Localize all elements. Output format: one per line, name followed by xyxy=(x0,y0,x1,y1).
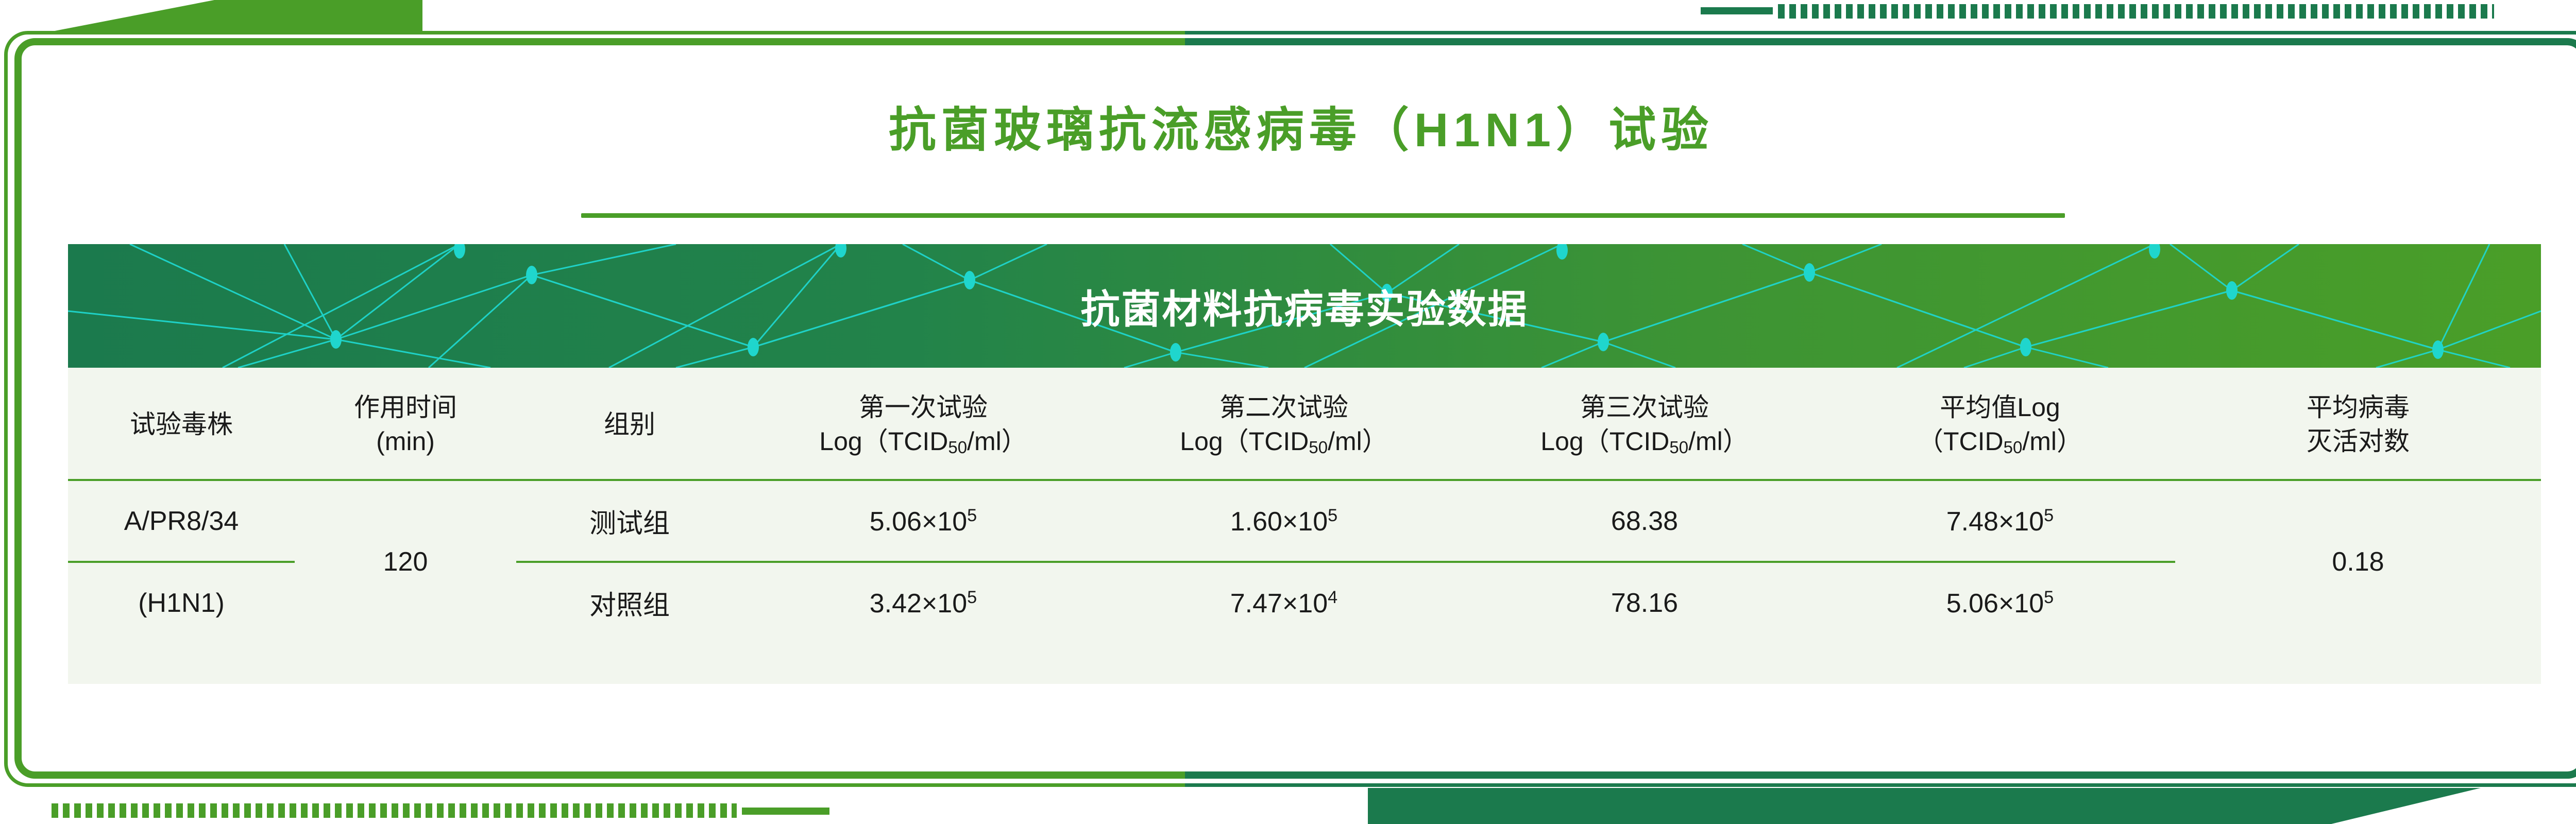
header-contact-time: 作用时间 (min) xyxy=(295,368,516,480)
cell-test2-test-group: 1.60×105 xyxy=(1104,480,1464,562)
page-root: 抗菌玻璃抗流感病毒（H1N1）试验 xyxy=(0,0,2576,824)
header-test-3: 第三次试验 Log（TCID50/ml） xyxy=(1464,368,1825,480)
cell-test1-control-group: 3.42×105 xyxy=(743,562,1104,643)
cell-group-test: 测试组 xyxy=(516,480,743,562)
table-row: A/PR8/34 120 测试组 5.06×105 1.60×105 68.38… xyxy=(68,480,2541,562)
data-table-card: 抗菌材料抗病毒实验数据 试验毒株 作用时 xyxy=(68,244,2541,684)
header-group: 组别 xyxy=(516,368,743,480)
page-title: 抗菌玻璃抗流感病毒（H1N1）试验 xyxy=(0,92,2576,160)
cell-avg-control-group: 5.06×105 xyxy=(1825,562,2175,643)
cell-test2-control-group: 7.47×104 xyxy=(1104,562,1464,643)
cell-test3-control-group: 78.16 xyxy=(1464,562,1825,643)
cell-contact-time: 120 xyxy=(295,480,516,643)
header-test-1: 第一次试验 Log（TCID50/ml） xyxy=(743,368,1104,480)
title-underline xyxy=(581,213,2065,218)
table-header-row: 试验毒株 作用时间 (min) 组别 第一次试验 Log（T xyxy=(68,368,2541,480)
header-average-log: 平均值Log （TCID50/ml） xyxy=(1825,368,2175,480)
cell-avg-test-group: 7.48×105 xyxy=(1825,480,2175,562)
cell-test3-test-group: 68.38 xyxy=(1464,480,1825,562)
header-strain: 试验毒株 xyxy=(68,368,295,480)
cell-group-control: 对照组 xyxy=(516,562,743,643)
header-avg-inactivation-log: 平均病毒 灭活对数 xyxy=(2175,368,2541,480)
banner-title: 抗菌材料抗病毒实验数据 xyxy=(68,278,2541,334)
table-bottom-padding-row xyxy=(68,643,2541,684)
cell-avg-inactivation-log: 0.18 xyxy=(2175,480,2541,643)
table-banner: 抗菌材料抗病毒实验数据 xyxy=(68,244,2541,368)
antiviral-data-table: 试验毒株 作用时间 (min) 组别 第一次试验 Log（T xyxy=(68,368,2541,684)
table-body-wrapper: 试验毒株 作用时间 (min) 组别 第一次试验 Log（T xyxy=(68,368,2541,684)
cell-strain-line2: (H1N1) xyxy=(68,562,295,643)
cell-strain-line1: A/PR8/34 xyxy=(68,480,295,562)
cell-test1-test-group: 5.06×105 xyxy=(743,480,1104,562)
header-test-2: 第二次试验 Log（TCID50/ml） xyxy=(1104,368,1464,480)
